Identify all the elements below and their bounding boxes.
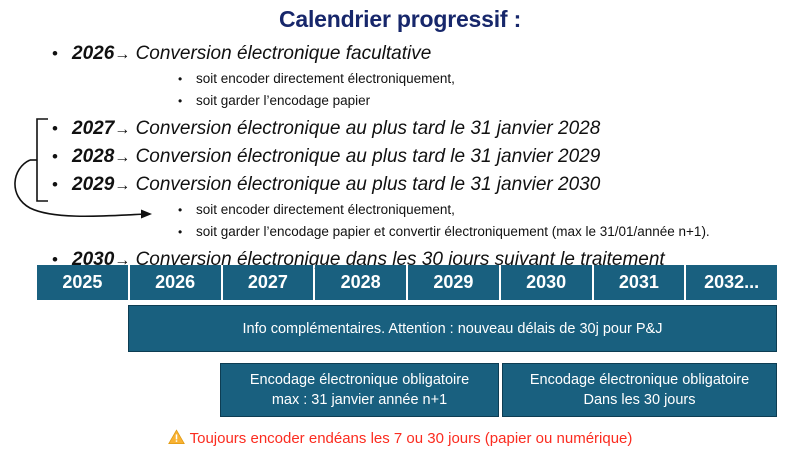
sub-bullet-dot-icon: •: [178, 221, 182, 243]
obligation-bar-30-days: Encodage électronique obligatoire Dans l…: [502, 363, 777, 417]
sub-bullet-text: soit garder l’encodage papier et convert…: [196, 224, 710, 239]
info-complementary-bar: Info complémentaires. Attention : nouvea…: [128, 305, 777, 352]
bullet-dot-icon: •: [52, 40, 58, 67]
obligation-bar-line1: Encodage électronique obligatoire: [530, 370, 749, 390]
obligation-bar-line2: Dans les 30 jours: [583, 390, 695, 410]
bullet-item-2029: •2029→ Conversion électronique au plus t…: [0, 171, 800, 199]
slide-canvas: Calendrier progressif : •2026→ Conversio…: [0, 0, 800, 460]
bullet-arrow-icon: →: [114, 46, 130, 63]
obligation-bar-line1: Encodage électronique obligatoire: [250, 370, 469, 390]
year-cell-2032[interactable]: 2032...: [686, 265, 777, 300]
bullet-dot-icon: •: [52, 143, 58, 170]
year-cell-2031[interactable]: 2031: [594, 265, 685, 300]
year-cell-2026[interactable]: 2026: [130, 265, 221, 300]
timeline-year-header: 2025 2026 2027 2028 2029 2030 2031 2032.…: [37, 265, 777, 300]
sub-bullet-item: •soit garder l’encodage papier: [0, 90, 800, 112]
warning-footer: Toujours encoder endéans les 7 ou 30 jou…: [0, 429, 800, 449]
bullet-dot-icon: •: [52, 171, 58, 198]
bullet-arrow-icon: →: [114, 177, 130, 194]
sub-bullet-item: •soit encoder directement électroniqueme…: [0, 199, 800, 221]
bullet-text: Conversion électronique au plus tard le …: [136, 174, 601, 195]
sub-bullet-item: •soit garder l’encodage papier et conver…: [0, 221, 800, 243]
sub-bullet-text: soit garder l’encodage papier: [196, 93, 370, 108]
obligation-bar-line2: max : 31 janvier année n+1: [272, 390, 447, 410]
bullet-year: 2029: [72, 174, 114, 195]
sub-bullet-item: •soit encoder directement électroniqueme…: [0, 68, 800, 90]
bullet-year: 2027: [72, 118, 114, 139]
bullet-year: 2028: [72, 146, 114, 167]
timeline-bullet-list: •2026→ Conversion électronique facultati…: [0, 40, 800, 274]
year-cell-2030[interactable]: 2030: [501, 265, 592, 300]
bullet-text: Conversion électronique facultative: [136, 43, 432, 64]
year-cell-2025[interactable]: 2025: [37, 265, 128, 300]
sub-bullet-dot-icon: •: [178, 90, 182, 112]
bullet-arrow-icon: →: [114, 121, 130, 138]
bullet-item-2026: •2026→ Conversion électronique facultati…: [0, 40, 800, 68]
year-cell-2029[interactable]: 2029: [408, 265, 499, 300]
page-title: Calendrier progressif :: [0, 6, 800, 33]
bullet-text: Conversion électronique au plus tard le …: [136, 118, 601, 139]
bullet-text: Conversion électronique au plus tard le …: [136, 146, 601, 167]
obligation-bar-row: Encodage électronique obligatoire max : …: [220, 363, 777, 417]
warning-footer-text: Toujours encoder endéans les 7 ou 30 jou…: [190, 430, 633, 447]
bullet-arrow-icon: →: [114, 149, 130, 166]
year-cell-2027[interactable]: 2027: [223, 265, 314, 300]
year-cell-2028[interactable]: 2028: [315, 265, 406, 300]
sub-bullet-dot-icon: •: [178, 199, 182, 221]
sub-bullet-text: soit encoder directement électroniquemen…: [196, 202, 455, 217]
bullet-item-2028: •2028→ Conversion électronique au plus t…: [0, 143, 800, 171]
bullet-dot-icon: •: [52, 115, 58, 142]
sub-bullet-dot-icon: •: [178, 68, 182, 90]
bullet-year: 2026: [72, 43, 114, 64]
warning-triangle-icon: [168, 429, 185, 449]
obligation-bar-max-31-january: Encodage électronique obligatoire max : …: [220, 363, 499, 417]
sub-bullet-text: soit encoder directement électroniquemen…: [196, 71, 455, 86]
bullet-item-2027: •2027→ Conversion électronique au plus t…: [0, 115, 800, 143]
